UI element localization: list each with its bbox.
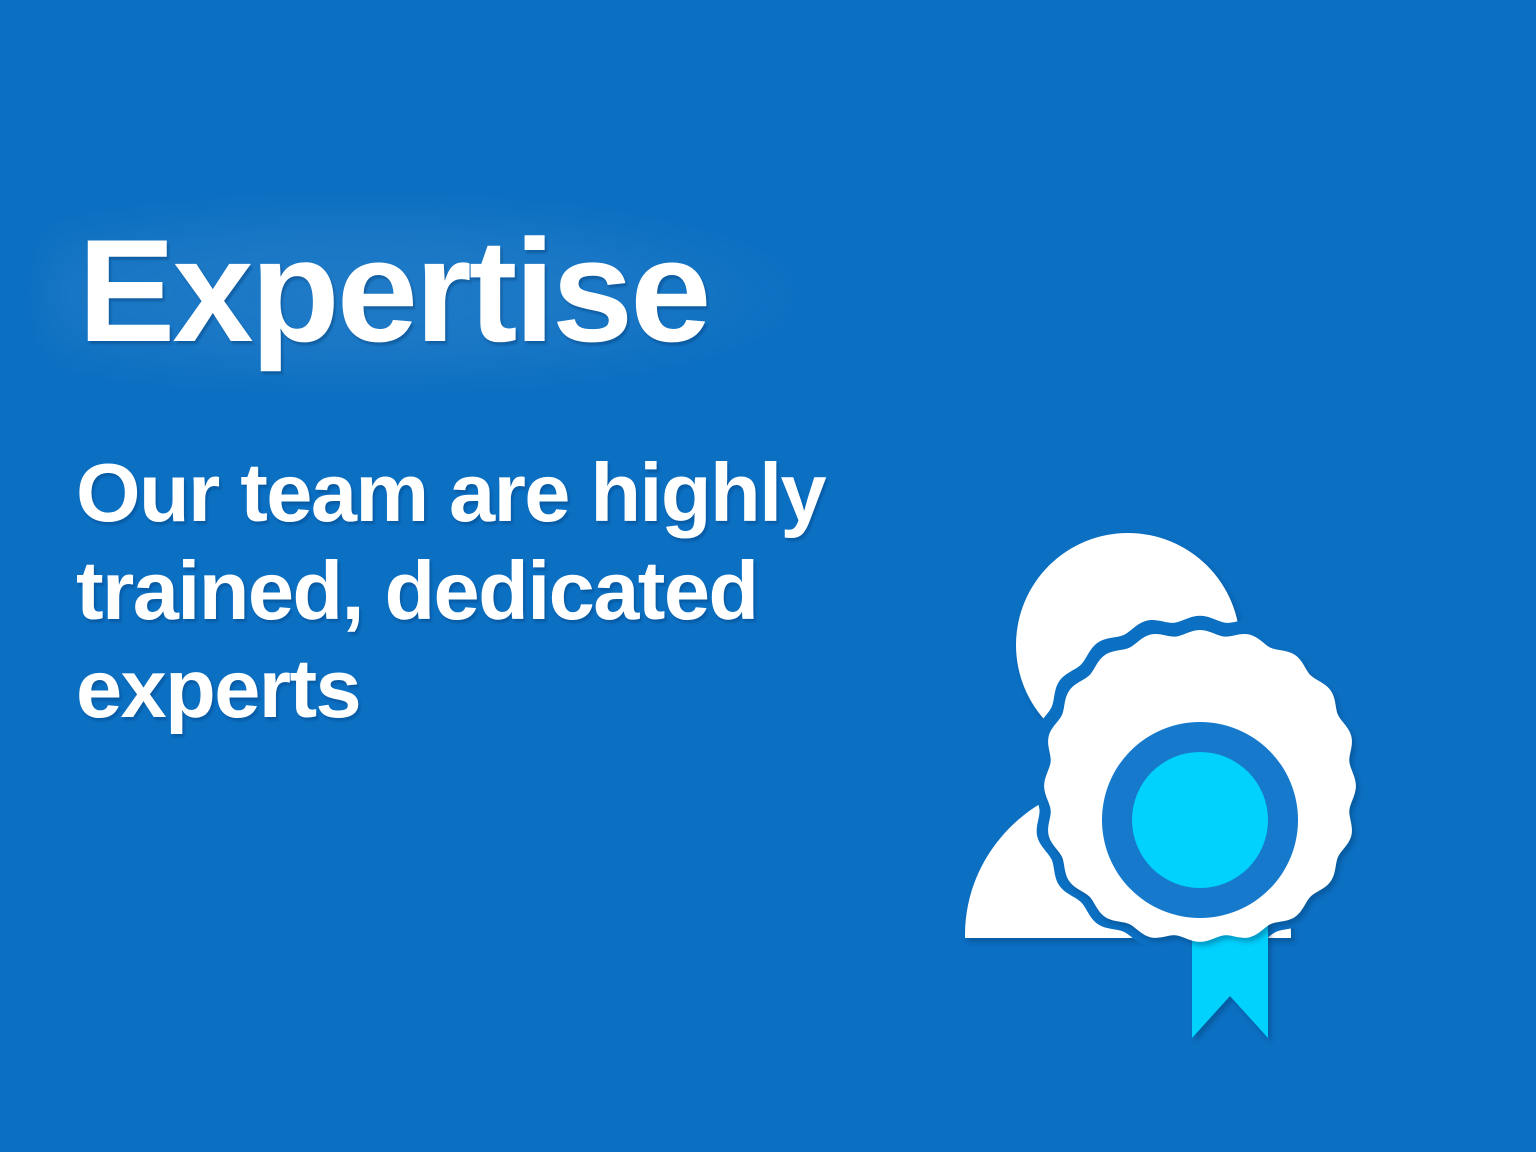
slide-canvas: Expertise Our team are highly trained, d… [0,0,1536,1152]
expert-person-award-icon [930,520,1470,1060]
subtitle-text: Our team are highly trained, dedicated e… [76,444,936,738]
badge-center [1132,752,1268,888]
page-title: Expertise [78,218,708,364]
award-rosette-badge [1044,630,1356,942]
